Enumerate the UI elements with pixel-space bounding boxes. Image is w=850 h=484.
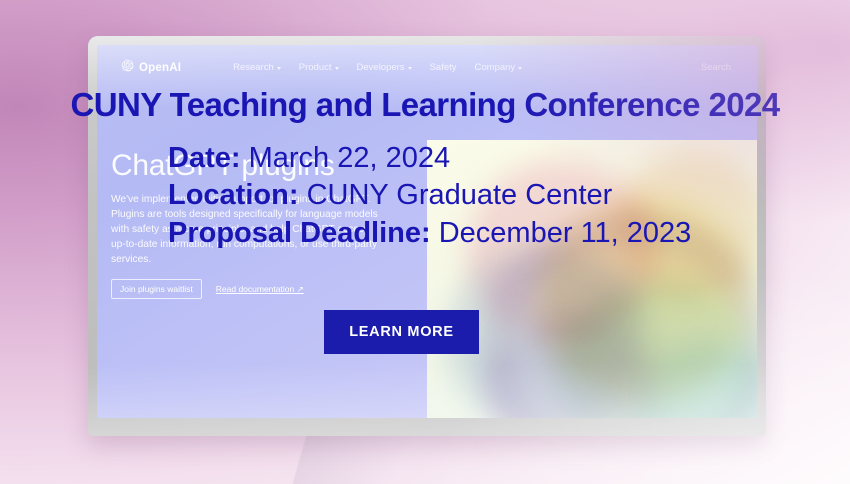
search-button[interactable]: Search <box>701 62 731 73</box>
chevron-down-icon <box>335 67 339 70</box>
chevron-down-icon <box>277 67 281 70</box>
nav-link-developers[interactable]: Developers <box>357 62 412 73</box>
chevron-down-icon <box>518 67 522 70</box>
nav-link-company[interactable]: Company <box>475 62 523 73</box>
nav-link-product[interactable]: Product <box>299 62 339 73</box>
brand-logo[interactable]: OpenAI <box>121 59 181 77</box>
learn-more-button[interactable]: LEARN MORE <box>324 310 479 354</box>
nav-link-developers-label: Developers <box>357 62 405 73</box>
nav-link-company-label: Company <box>475 62 516 73</box>
chevron-down-icon <box>408 67 412 70</box>
monitor-stand <box>292 430 478 484</box>
nav-link-research[interactable]: Research <box>233 62 281 73</box>
hero-body: We've implemented initial support for pl… <box>111 192 383 267</box>
nav-link-safety[interactable]: Safety <box>430 62 457 73</box>
openai-logo-icon <box>121 59 134 77</box>
desktop-monitor: OpenAI Research Product Developers <box>88 36 766 436</box>
poster-stage: OpenAI Research Product Developers <box>0 0 850 484</box>
brand-name: OpenAI <box>139 62 181 74</box>
hero-artwork <box>427 140 757 418</box>
hero-title: ChatGPT plugins <box>111 150 411 182</box>
nav-links: Research Product Developers Safety <box>233 62 522 73</box>
join-waitlist-button[interactable]: Join plugins waitlist <box>111 279 202 299</box>
site-navbar: OpenAI Research Product Developers <box>97 45 757 90</box>
nav-link-safety-label: Safety <box>430 62 457 73</box>
website-hero: ChatGPT plugins We've implemented initia… <box>111 150 411 299</box>
nav-link-product-label: Product <box>299 62 332 73</box>
hero-actions: Join plugins waitlist Read documentation… <box>111 279 411 299</box>
read-documentation-link[interactable]: Read documentation ↗ <box>216 284 304 295</box>
nav-link-research-label: Research <box>233 62 274 73</box>
monitor-screen: OpenAI Research Product Developers <box>97 45 757 418</box>
